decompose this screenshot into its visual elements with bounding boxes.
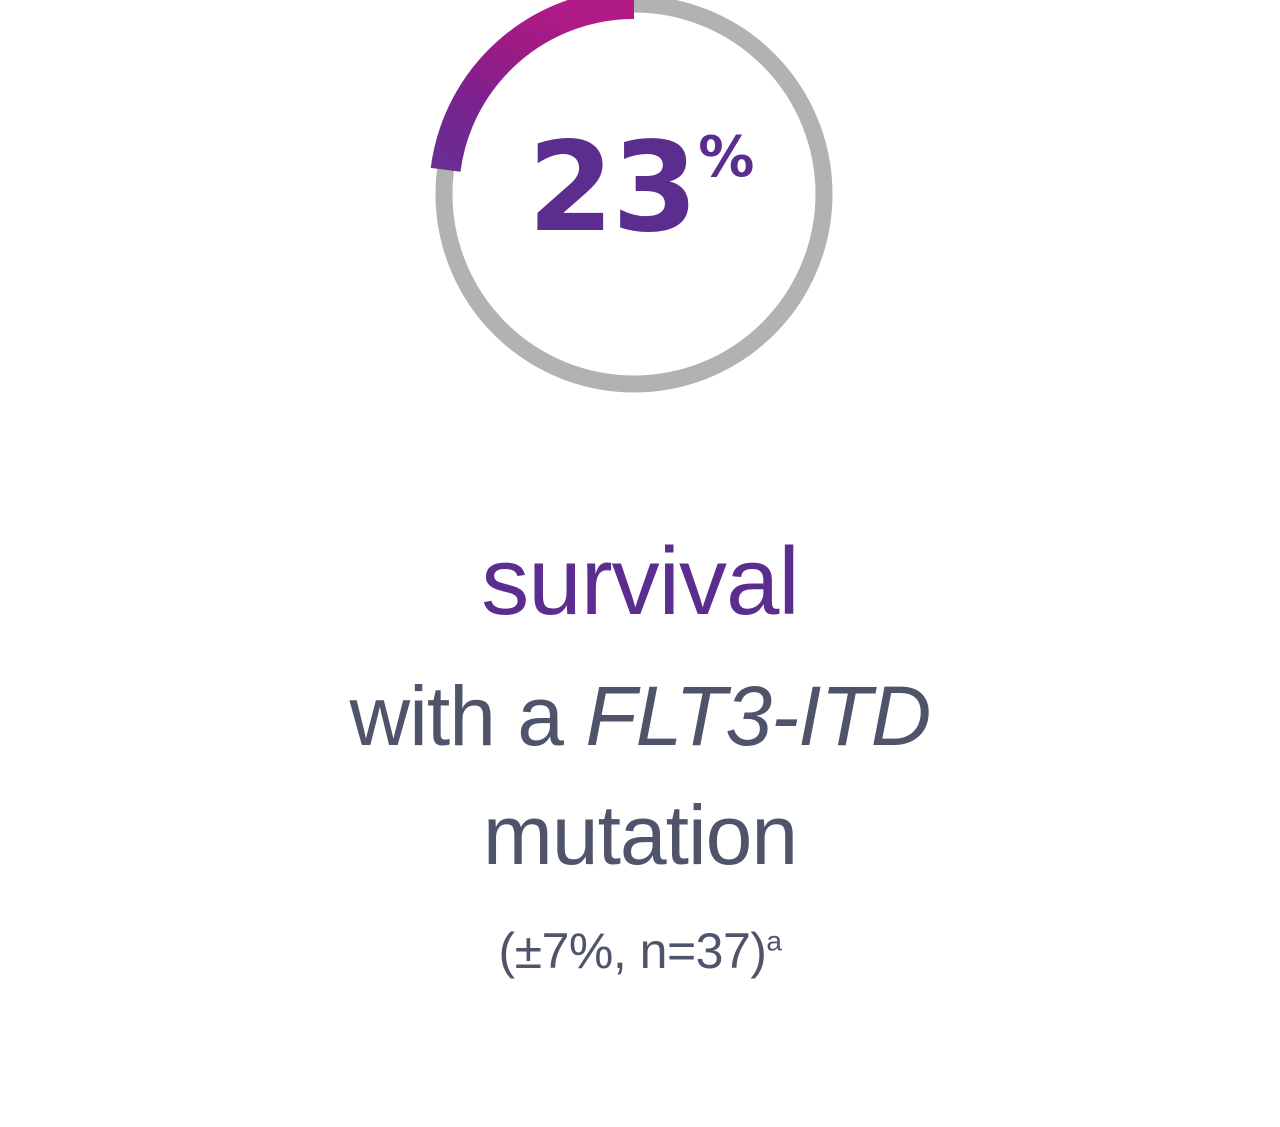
caption-sub-suffix: mutation xyxy=(483,788,797,882)
gauge-number: 23 xyxy=(528,116,697,260)
stat-card: 23% survival with a FLT3-ITDmutation (±7… xyxy=(0,0,1280,1127)
caption-note-marker: a xyxy=(766,926,781,957)
caption-subtitle: with a FLT3-ITDmutation xyxy=(0,657,1280,896)
caption-note-text: (±7%, n=37) xyxy=(499,923,767,979)
caption-headline: survival xyxy=(0,520,1280,645)
caption-sub-prefix: with a xyxy=(350,669,586,763)
caption-gene-name: FLT3-ITD xyxy=(585,669,930,763)
caption-block: survival with a FLT3-ITDmutation (±7%, n… xyxy=(0,520,1280,981)
caption-footnote: (±7%, n=37)a xyxy=(0,921,1280,981)
gauge-value: 23% xyxy=(0,126,1280,250)
donut-gauge: 23% xyxy=(0,0,1280,440)
gauge-unit: % xyxy=(698,125,754,190)
